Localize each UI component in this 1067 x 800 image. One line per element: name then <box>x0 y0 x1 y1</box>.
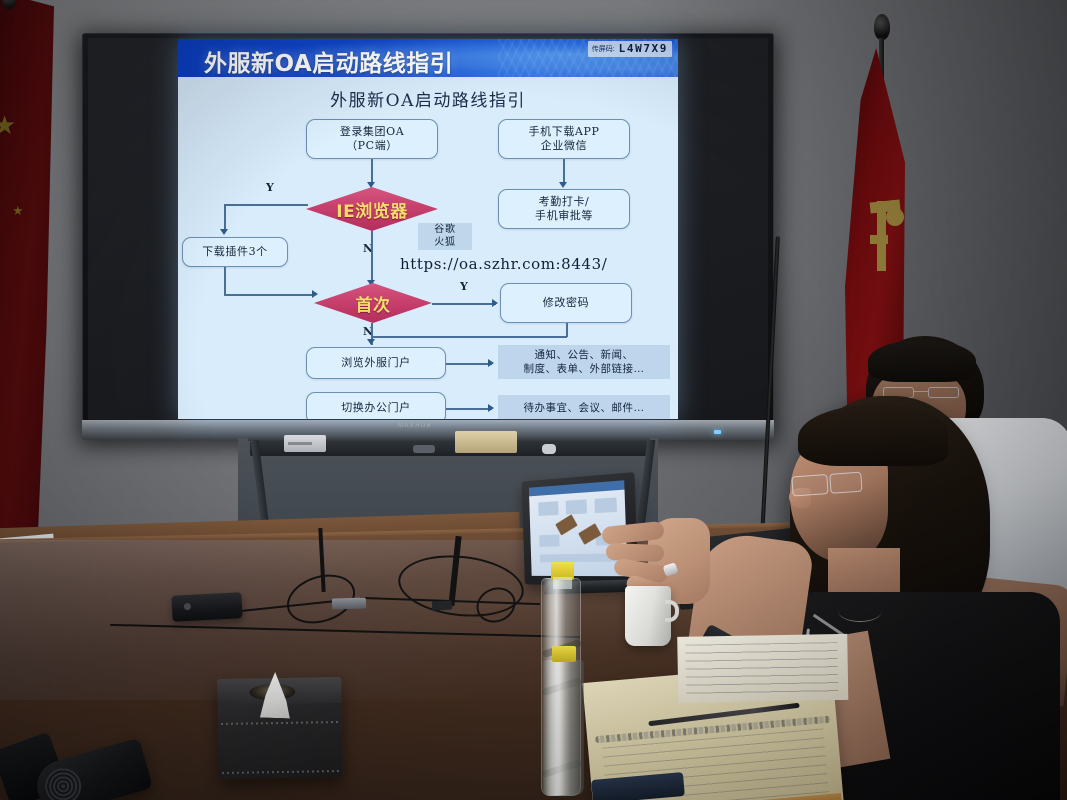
arrow-down-icon <box>559 182 567 188</box>
laptop-ui-cell <box>539 535 559 547</box>
node-browse-waifu-portal-label: 浏览外服门户 <box>341 356 411 370</box>
node-attendance-line2: 手机审批等 <box>535 209 593 223</box>
hammer-sickle-emblem <box>868 183 908 288</box>
slide-subtitle: 外服新OA启动路线指引 <box>178 86 678 111</box>
glasses-lens <box>829 472 862 494</box>
arrow-right-icon <box>492 299 498 307</box>
arrow-right-icon <box>488 404 494 412</box>
person-back-hair <box>868 340 976 382</box>
node-change-password-label: 修改密码 <box>543 296 589 310</box>
annotation-browsers: 谷歌 火狐 <box>418 223 472 250</box>
node-download-plugins[interactable]: 下载插件3个 <box>182 237 288 267</box>
output-waifu-portal: 通知、公告、新闻、 制度、表单、外部链接… <box>498 345 670 379</box>
notebook-handwriting <box>685 642 838 695</box>
node-login-oa[interactable]: 登录集团OA （PC端） <box>306 119 438 159</box>
notebook-open-page <box>677 634 848 703</box>
connector-office-out <box>446 408 492 410</box>
node-switch-office-portal[interactable]: 切换办公门户 <box>306 392 446 419</box>
node-browse-waifu-portal[interactable]: 浏览外服门户 <box>306 347 446 379</box>
connector-plugins-h <box>224 294 314 296</box>
connector-ie-yes-v <box>224 204 226 232</box>
arrow-right-icon <box>488 359 494 367</box>
shelf-device-box <box>284 435 326 452</box>
water-bottle-short[interactable] <box>543 660 584 795</box>
cable-adapter <box>332 597 366 609</box>
flag-star-large: ★ <box>0 112 16 138</box>
node-mobile-app-line2: 企业微信 <box>529 139 600 153</box>
slide-banner-title: 外服新OA启动路线指引 <box>204 44 453 78</box>
glasses-lens <box>791 474 828 496</box>
arrow-down-icon <box>220 229 228 235</box>
laptop-ui-cell <box>566 499 587 514</box>
finger <box>606 543 665 562</box>
connector-ie-no <box>371 231 373 283</box>
connector-waifu-out <box>446 363 492 365</box>
shelf-cardboard-box <box>455 431 517 453</box>
annotation-oa-url[interactable]: https://oa.szhr.com:8443/ <box>400 255 607 273</box>
conference-microphone[interactable] <box>171 592 242 622</box>
laptop-ui-tile <box>555 514 577 535</box>
node-attendance[interactable]: 考勤打卡/ 手机审批等 <box>498 189 630 229</box>
flag-pole-finial <box>874 14 890 40</box>
annotation-browser-firefox: 火狐 <box>421 237 469 250</box>
node-attendance-line1: 考勤打卡/ <box>535 195 593 209</box>
bottle-cap <box>552 646 576 662</box>
decision-ie-browser-label: IE浏览器 <box>336 197 407 222</box>
glasses-bridge <box>914 391 928 392</box>
decision-first-time[interactable]: 首次 <box>314 283 432 323</box>
necklace <box>838 600 882 622</box>
output-waifu-line2: 制度、表单、外部链接… <box>524 362 645 376</box>
node-change-password[interactable]: 修改密码 <box>500 283 632 323</box>
node-download-plugins-label: 下载插件3个 <box>202 245 268 259</box>
connector-merge <box>371 336 567 338</box>
screen-cast-code: 传屏码: L4W7X9 <box>588 41 672 57</box>
node-switch-office-portal-label: 切换办公门户 <box>341 401 411 415</box>
node-mobile-app[interactable]: 手机下载APP 企业微信 <box>498 119 630 159</box>
laptop-app-titlebar <box>529 480 625 496</box>
output-office-portal: 待办事宜、会议、邮件… <box>498 395 670 419</box>
flag-star-small: ★ <box>0 198 2 211</box>
node-login-oa-line2: （PC端） <box>340 139 405 153</box>
node-login-oa-line1: 登录集团OA <box>340 125 405 139</box>
connector-pwd-down <box>566 323 568 337</box>
laptop-ui-cell <box>538 501 558 516</box>
tissue-box-stitching <box>222 770 340 774</box>
flag-star-small: ★ <box>12 204 24 217</box>
ceramic-mug[interactable] <box>625 586 671 646</box>
connector-first-yes <box>432 303 496 305</box>
meeting-room-photo: ★ ★ ★ MAXHUB 外服新OA启动路线指引 传屏码: L4W7X9 <box>0 0 1067 800</box>
slide-header-banner: 外服新OA启动路线指引 传屏码: L4W7X9 <box>178 39 678 77</box>
decision-first-time-label: 首次 <box>356 291 391 316</box>
connector-ie-yes-h <box>224 204 308 206</box>
branch-label-first-yes: Y <box>460 280 468 293</box>
shelf-remote <box>413 445 435 453</box>
bottle-neck <box>553 577 572 589</box>
branch-label-ie-yes: Y <box>266 181 274 194</box>
cable-adapter <box>432 600 452 610</box>
annotation-browser-chrome: 谷歌 <box>421 224 469 237</box>
presentation-slide[interactable]: 外服新OA启动路线指引 传屏码: L4W7X9 外服新OA启动路线指引 登录集团… <box>178 39 678 419</box>
tissue-box-stitching <box>221 721 339 725</box>
tv-brand-logo: MAXHUB <box>398 423 432 429</box>
output-office-line1: 待办事宜、会议、邮件… <box>524 401 645 415</box>
connector-plugins-v <box>224 267 226 295</box>
shelf-small-device <box>542 444 556 454</box>
glasses-lens <box>928 387 959 398</box>
slide-body: 外服新OA启动路线指引 登录集团OA （PC端） 手机下载APP 企业微信 <box>178 77 678 419</box>
screen-code-label: 传屏码: <box>592 44 615 54</box>
screen-code-value: L4W7X9 <box>619 42 668 55</box>
arrow-down-icon <box>367 339 375 345</box>
node-mobile-app-line1: 手机下载APP <box>529 125 600 139</box>
output-waifu-line1: 通知、公告、新闻、 <box>524 348 645 362</box>
person-front-bangs <box>798 404 948 466</box>
tv-power-led-icon <box>714 430 721 434</box>
